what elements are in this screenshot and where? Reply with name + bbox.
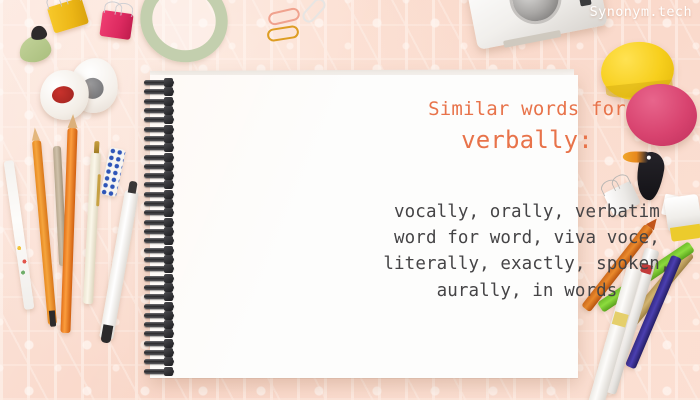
synonym-line: literally, exactly, spoken, <box>383 251 670 277</box>
spiral-ring <box>144 117 174 122</box>
spiral-ring <box>144 136 174 141</box>
spiral-ring <box>144 164 174 169</box>
spiral-ring <box>144 313 174 318</box>
spiral-ring <box>144 220 174 225</box>
spiral-ring <box>144 322 174 327</box>
spiral-ring <box>144 359 174 364</box>
spiral-ring <box>144 99 174 104</box>
notepad-card: Similar words for verbally: vocally, ora… <box>150 75 578 378</box>
spiral-ring <box>144 201 174 206</box>
spiral-ring <box>144 108 174 113</box>
spiral-ring <box>144 145 174 150</box>
spiral-ring <box>144 248 174 253</box>
spiral-ring <box>144 341 174 346</box>
binder-clip-pink-icon <box>99 10 133 40</box>
spiral-binding <box>144 80 174 374</box>
spiral-ring <box>144 229 174 234</box>
spiral-ring <box>144 210 174 215</box>
notepad-content: Similar words for verbally: vocally, ora… <box>332 75 700 378</box>
spiral-ring <box>144 294 174 299</box>
synonym-line: word for word, viva voce, <box>383 225 670 251</box>
spiral-ring <box>144 89 174 94</box>
title-headword: verbally: <box>428 125 626 157</box>
spiral-ring <box>144 192 174 197</box>
spiral-ring <box>144 257 174 262</box>
spiral-ring <box>144 238 174 243</box>
camera-lens-icon <box>505 0 566 29</box>
spiral-ring <box>144 304 174 309</box>
synonym-line: aurally, in words <box>383 278 670 304</box>
spiral-ring <box>144 350 174 355</box>
spiral-ring <box>144 285 174 290</box>
spiral-ring <box>144 369 174 374</box>
spiral-ring <box>144 80 174 85</box>
title-prefix: Similar words for <box>428 97 626 122</box>
synonym-line: vocally, orally, verbatim <box>383 199 670 225</box>
spiral-ring <box>144 266 174 271</box>
spiral-ring <box>144 276 174 281</box>
spiral-ring <box>144 173 174 178</box>
spiral-ring <box>144 182 174 187</box>
site-logo[interactable]: Synonym.tech <box>590 4 692 20</box>
synonym-list: vocally, orally, verbatim word for word,… <box>383 199 670 304</box>
page-root: Similar words for verbally: vocally, ora… <box>0 0 700 400</box>
spiral-ring <box>144 155 174 160</box>
page-title: Similar words for verbally: <box>428 97 626 157</box>
spiral-ring <box>144 127 174 132</box>
spiral-ring <box>144 331 174 336</box>
